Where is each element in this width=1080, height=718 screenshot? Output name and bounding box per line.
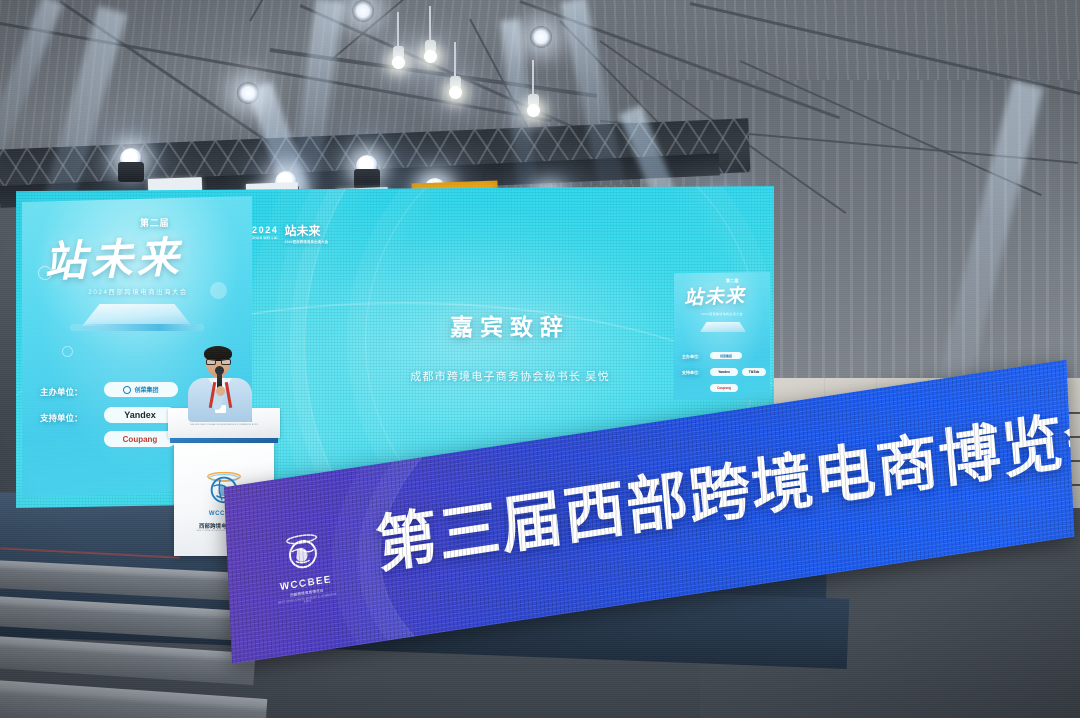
poster-left-subtitle: 2024西部跨境电商出海大会 <box>48 286 228 296</box>
screen-logo-mark-sub: 2024西部跨境电商出海大会 <box>285 239 329 244</box>
moving-head-spotlight-3 <box>352 155 382 189</box>
screen-center-title: 嘉宾致辞 <box>300 308 720 342</box>
screen-logo-mark-block: 站未来 2024西部跨境电商出海大会 <box>285 222 329 244</box>
ceiling-light-glow-2 <box>237 82 259 104</box>
guest-speaker <box>186 348 256 420</box>
screen-logo-year-sub: ZHAN WEI LAI <box>252 237 279 240</box>
moving-head-spotlight-1 <box>116 148 146 182</box>
screen-center-subtitle: 成都市跨境电子商务协会秘书长 吴悦 <box>300 368 720 384</box>
screen-logo-mark: 站未来 <box>285 224 321 238</box>
poster-left-organizer-name: 创菜集团 <box>134 385 158 394</box>
poster-left-supporter-label: 支持单位： <box>40 412 83 424</box>
screen-logo-year: 2024 <box>252 225 279 235</box>
screen-corner-logo: 2024 ZHAN WEI LAI 站未来 2024西部跨境电商出海大会 <box>252 222 328 244</box>
poster-left-device-graphic <box>82 304 192 326</box>
poster-left-bubble-2 <box>210 282 227 299</box>
glasses-icon <box>206 359 231 365</box>
poster-left-supporter-coupang: Coupang <box>104 431 176 447</box>
poster-right-title: 站未来 <box>684 281 746 310</box>
poster-left-supporter-yandex: Yandex <box>104 407 176 423</box>
poster-left-organizer-label: 主办单位： <box>40 386 83 398</box>
poster-left-organizer-logo: 创菜集团 <box>104 382 178 397</box>
poster-right-supporter-tiktok: TikTok <box>742 368 766 376</box>
poster-left-bubble-1 <box>38 266 52 280</box>
event-photo-scene: 3 通道 PASSAGE 🏃 安全出口 EXIT 🏃 2024 <box>0 0 1080 718</box>
poster-right-supporter-coupang: Coupang <box>710 384 738 392</box>
poster-left-device-base <box>70 324 204 331</box>
microphone-head-icon <box>215 366 224 375</box>
ceiling-light-glow-3 <box>352 0 374 22</box>
podium-header-en: THE 3RD WEST CHINA CROSS-BORDER E-COMMER… <box>168 424 280 426</box>
screen-logo-year-block: 2024 ZHAN WEI LAI <box>252 226 279 240</box>
poster-left-bubble-3 <box>62 346 73 357</box>
screen-center-text-block: 嘉宾致辞 成都市跨境电子商务协会秘书长 吴悦 <box>300 308 720 384</box>
poster-left-title: 站未来 <box>43 224 184 290</box>
speaker-hand <box>216 386 225 396</box>
ceiling-light-glow-1 <box>530 26 552 48</box>
organizer-mark-icon <box>123 386 131 394</box>
